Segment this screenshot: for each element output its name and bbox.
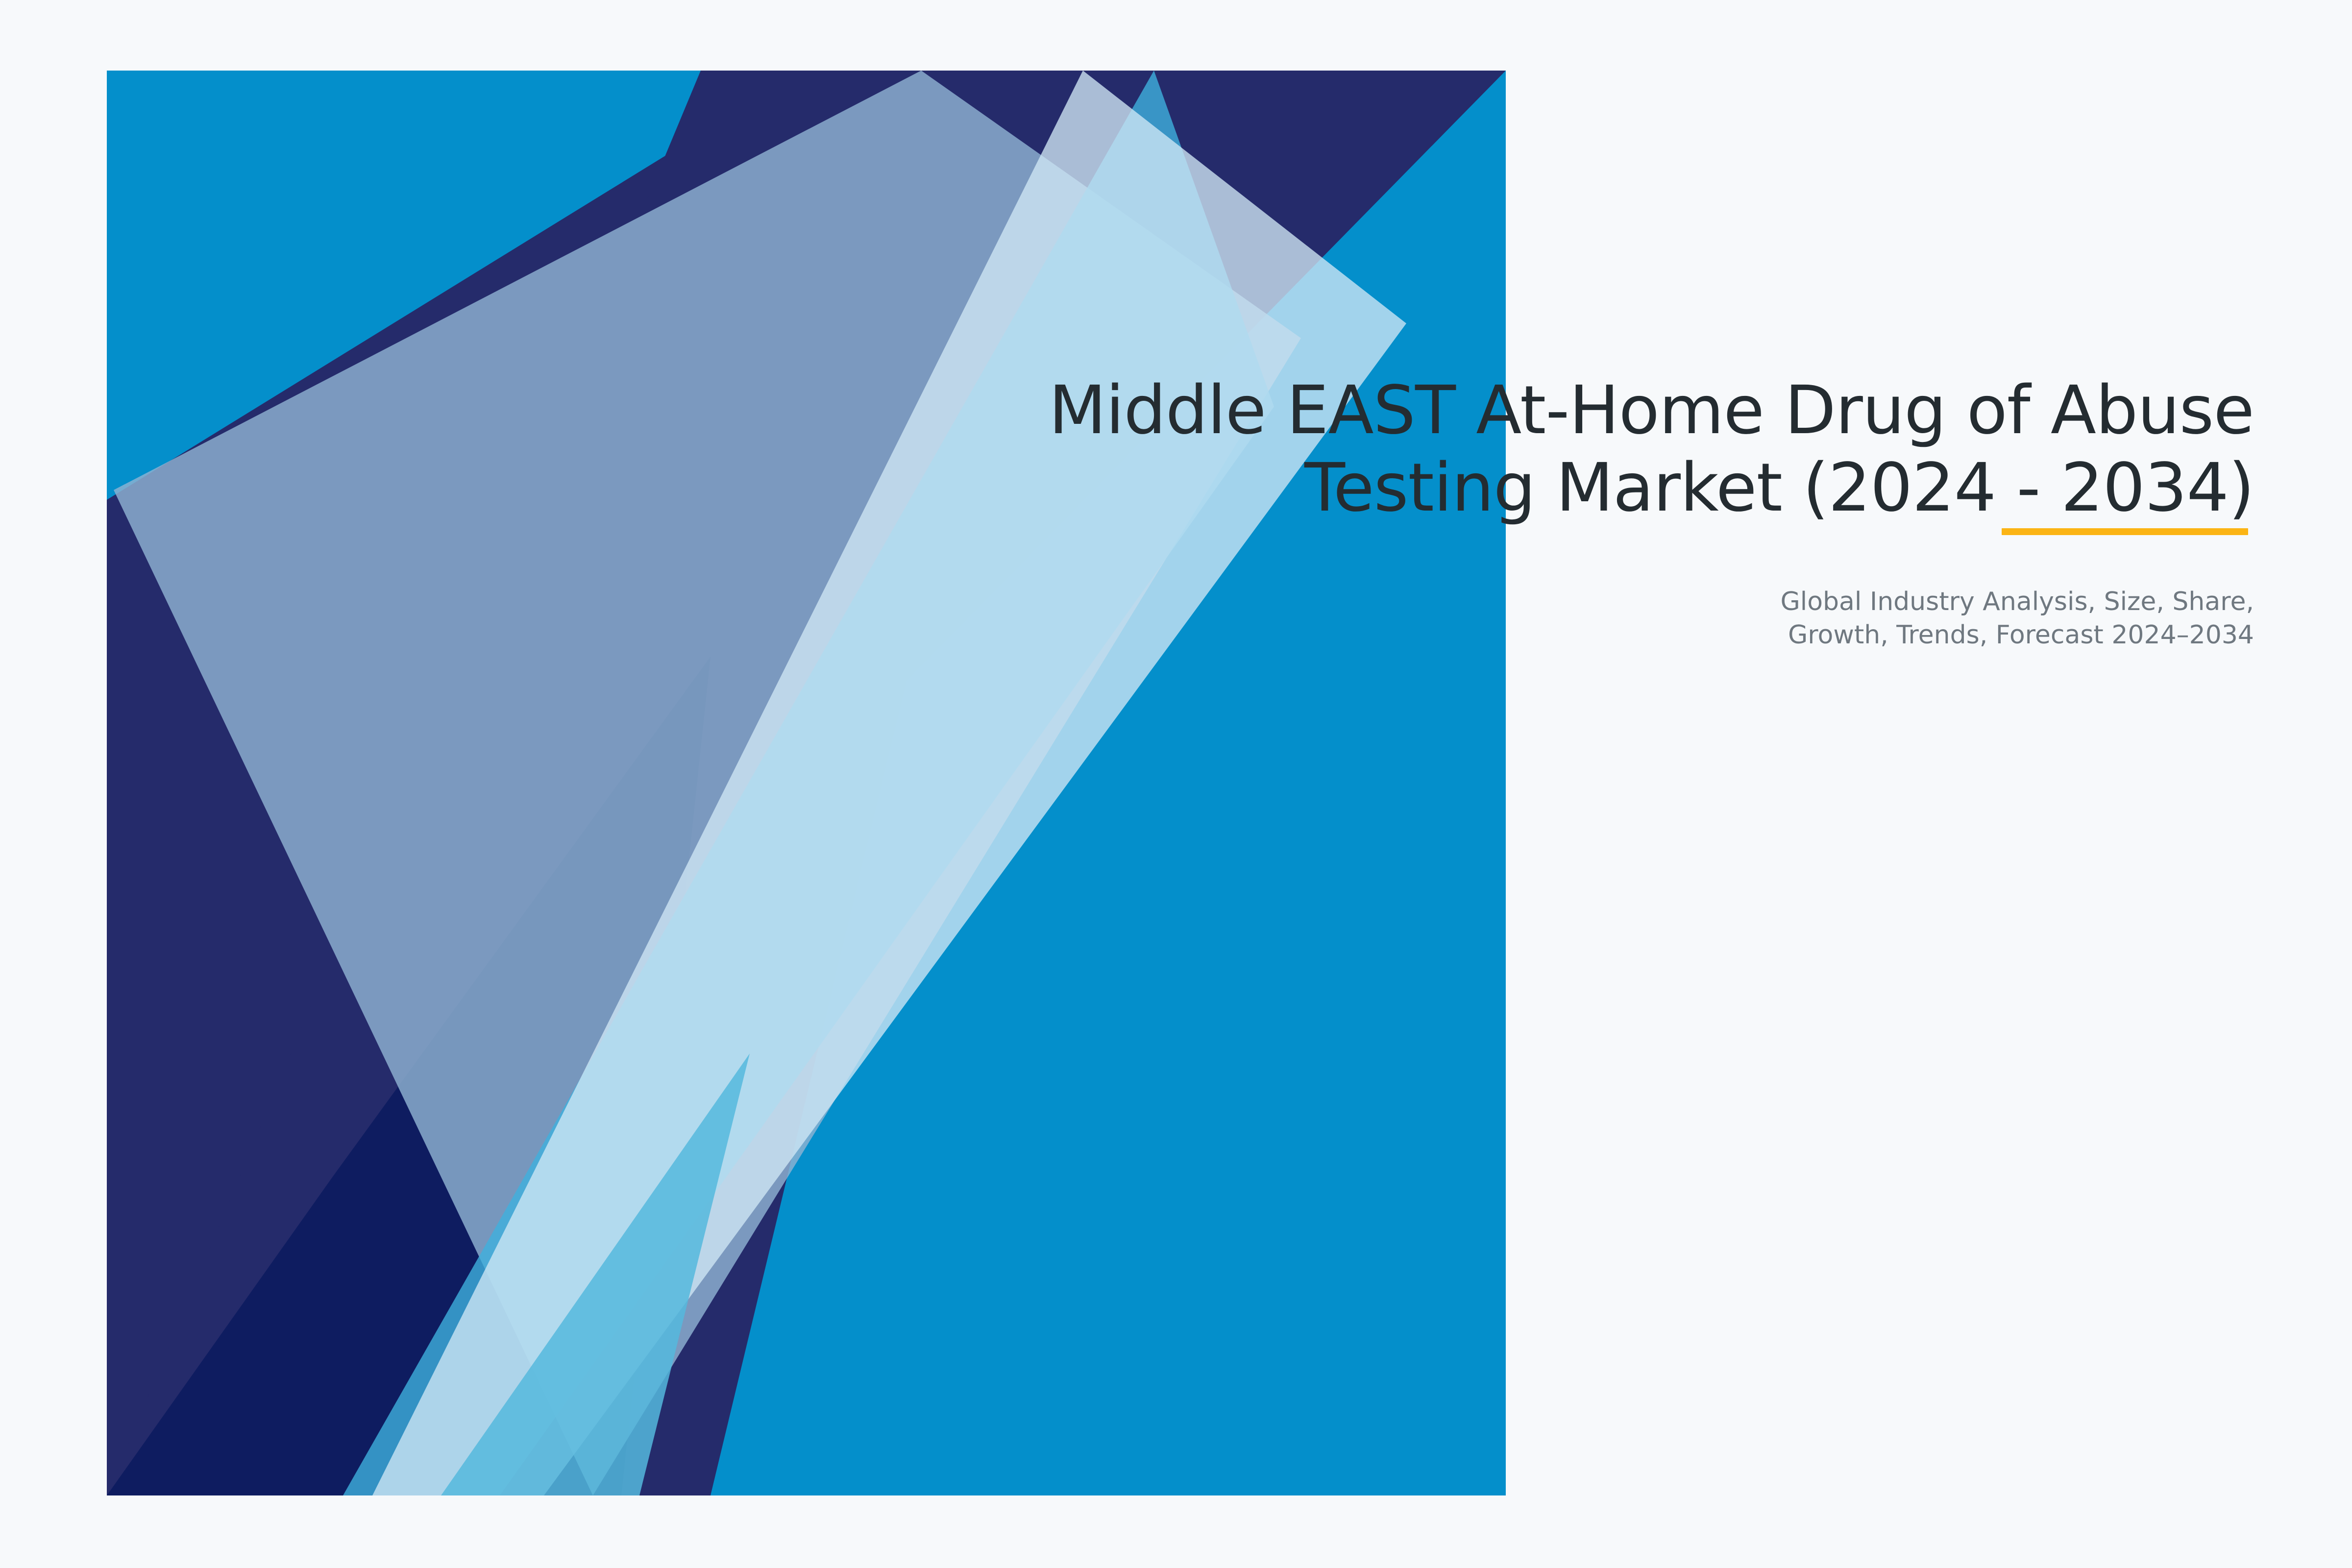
report-cover-page: Middle EAST At-Home Drug of Abuse Testin…: [0, 0, 2352, 1568]
cover-text-block: Middle EAST At-Home Drug of Abuse Testin…: [735, 372, 2254, 652]
cover-artwork: [0, 0, 2352, 1568]
page-title: Middle EAST At-Home Drug of Abuse Testin…: [735, 372, 2254, 527]
page-subtitle: Global Industry Analysis, Size, Share, G…: [735, 527, 2254, 652]
